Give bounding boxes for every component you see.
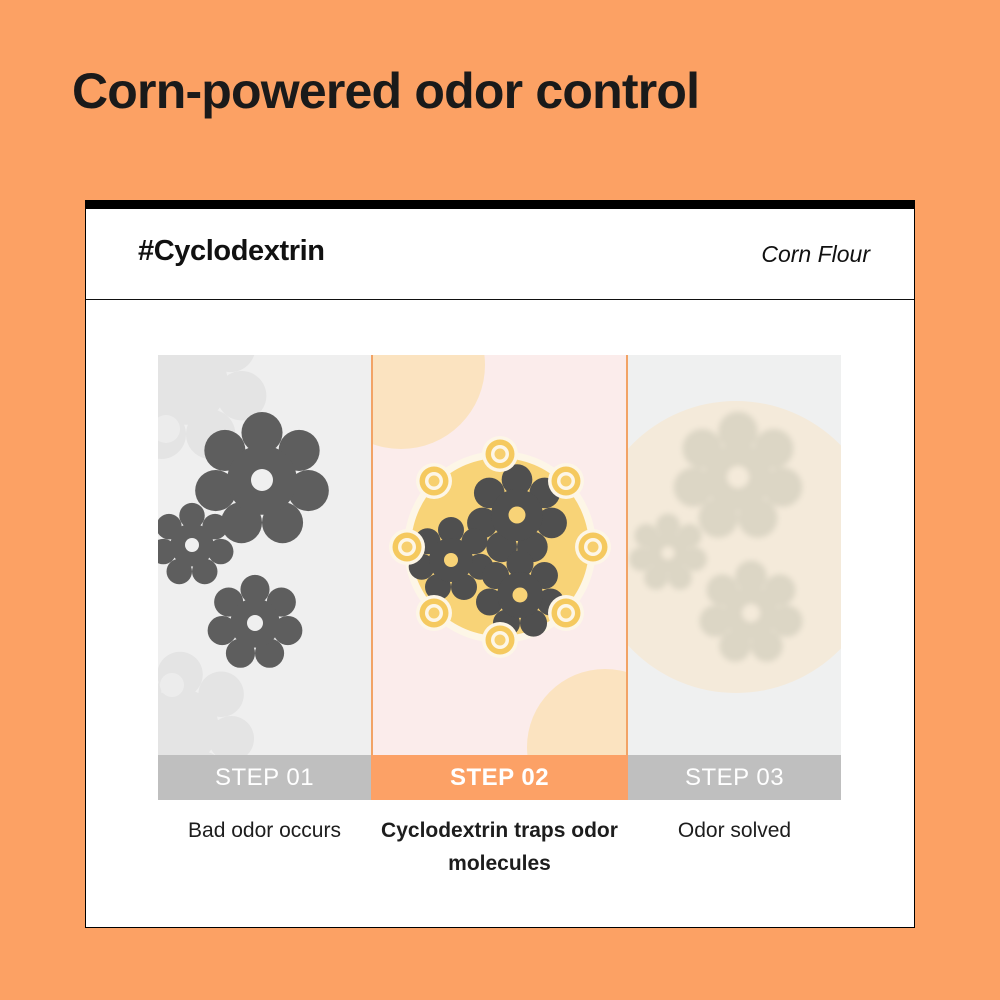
- panel-step-03: [628, 355, 841, 800]
- poster: Corn-powered odor control #Cyclodextrin …: [0, 0, 1000, 1000]
- card-header: #Cyclodextrin Corn Flour: [86, 209, 914, 300]
- odor-molecule-group: [158, 412, 329, 668]
- step-caption-row: Bad odor occurs Cyclodextrin traps odor …: [158, 815, 848, 880]
- page-title: Corn-powered odor control: [72, 62, 699, 120]
- step-badge-01[interactable]: STEP 01: [158, 755, 371, 800]
- info-card: #Cyclodextrin Corn Flour: [85, 200, 915, 928]
- step-badge-row: STEP 01 STEP 02 STEP 03: [158, 755, 848, 800]
- bad-odor-illustration: [158, 355, 371, 755]
- step-badge-02[interactable]: STEP 02: [371, 755, 628, 800]
- step-badge-03[interactable]: STEP 03: [628, 755, 841, 800]
- panel-row: [158, 355, 848, 800]
- odor-solved-illustration: [628, 355, 841, 755]
- hashtag-label: #Cyclodextrin: [138, 235, 325, 268]
- step-caption-02: Cyclodextrin traps odor molecules: [371, 815, 628, 880]
- diagram: STEP 01 STEP 02 STEP 03 Bad odor occurs …: [86, 300, 914, 934]
- panel-step-01: [158, 355, 371, 800]
- panel-step-02: [371, 355, 628, 800]
- step-caption-03: Odor solved: [628, 815, 841, 880]
- cyclodextrin-trap-illustration: [373, 355, 626, 755]
- step-caption-01: Bad odor occurs: [158, 815, 371, 880]
- ingredient-label: Corn Flour: [761, 241, 870, 268]
